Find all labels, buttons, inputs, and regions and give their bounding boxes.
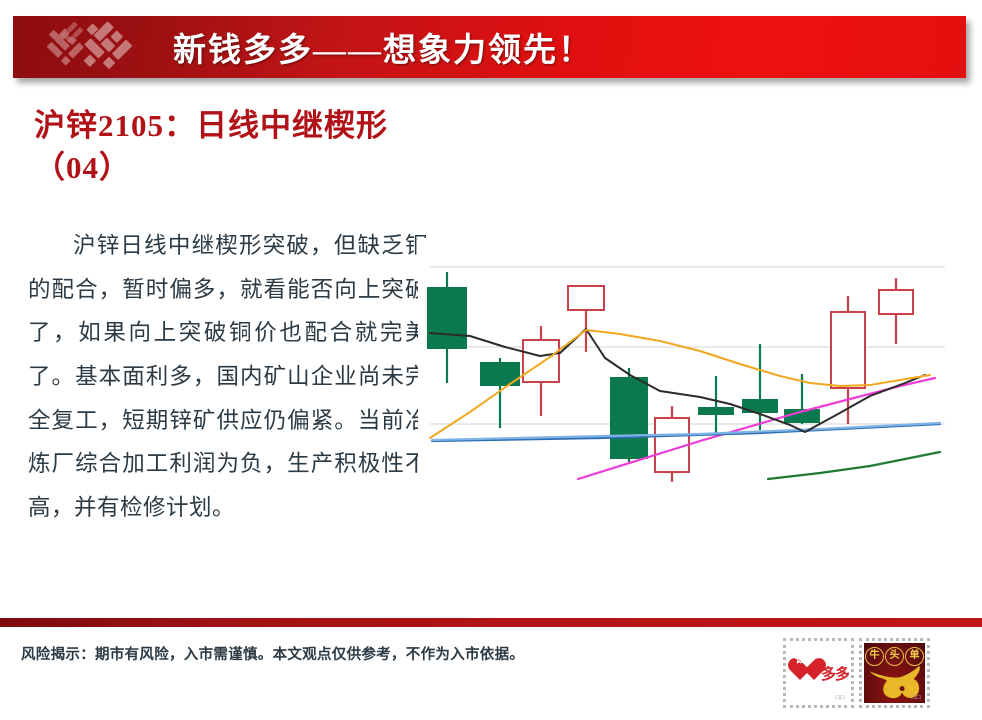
- body-paragraph: 沪锌日线中继楔形突破，但缺乏铜的配合，暂时偏多，就看能否向上突破了，如果向上突破…: [28, 224, 428, 529]
- slide-root: 新钱多多——想象力领先！ 沪锌2105：日线中继楔形（04） 沪锌日线中继楔形突…: [0, 0, 982, 720]
- stamp-a-inner: 钱 多多 口口: [788, 643, 849, 703]
- candlestick-chart: [418, 238, 970, 494]
- niutoudan-stamp: 牛 头 单 口口: [859, 638, 930, 708]
- footer-divider: [0, 618, 982, 627]
- candle-1: [481, 358, 519, 428]
- disclaimer-text: 风险揭示：期市有风险，入市需谨慎。本文观点仅供参考，不作为入市依据。: [21, 643, 524, 664]
- series-trend-green: [768, 452, 940, 479]
- stamp-b-char-2: 头: [885, 647, 904, 666]
- candle-6: [699, 376, 733, 434]
- stamp-b-char-1: 牛: [865, 647, 884, 666]
- header-banner: 新钱多多——想象力领先！: [13, 16, 966, 78]
- chinese-knot-icon: [31, 20, 151, 76]
- logo-stamps: 钱 多多 口口 牛 头 单 口口: [783, 638, 933, 710]
- candle-5: [655, 406, 689, 482]
- stamp-heart-char: 钱: [788, 649, 814, 666]
- stamp-b-char-3: 单: [905, 647, 924, 666]
- stamp-brand-text: 多多: [821, 663, 849, 684]
- stamp-b-corner-text: 口口: [911, 694, 921, 701]
- candle-0: [428, 272, 466, 383]
- qianduoduo-stamp: 钱 多多 口口: [783, 638, 854, 708]
- stamp-a-corner-text: 口口: [835, 694, 845, 701]
- stamp-b-chars: 牛 头 单: [864, 647, 925, 666]
- banner-title: 新钱多多——想象力领先！: [173, 23, 593, 71]
- candle-7: [743, 344, 777, 430]
- candle-3: [568, 286, 604, 352]
- candle-9: [831, 296, 865, 424]
- page-title: 沪锌2105：日线中继楔形（04）: [34, 105, 434, 189]
- stamp-b-inner: 牛 头 单 口口: [864, 643, 925, 703]
- chart-canvas: [418, 238, 970, 494]
- candle-10: [879, 278, 913, 344]
